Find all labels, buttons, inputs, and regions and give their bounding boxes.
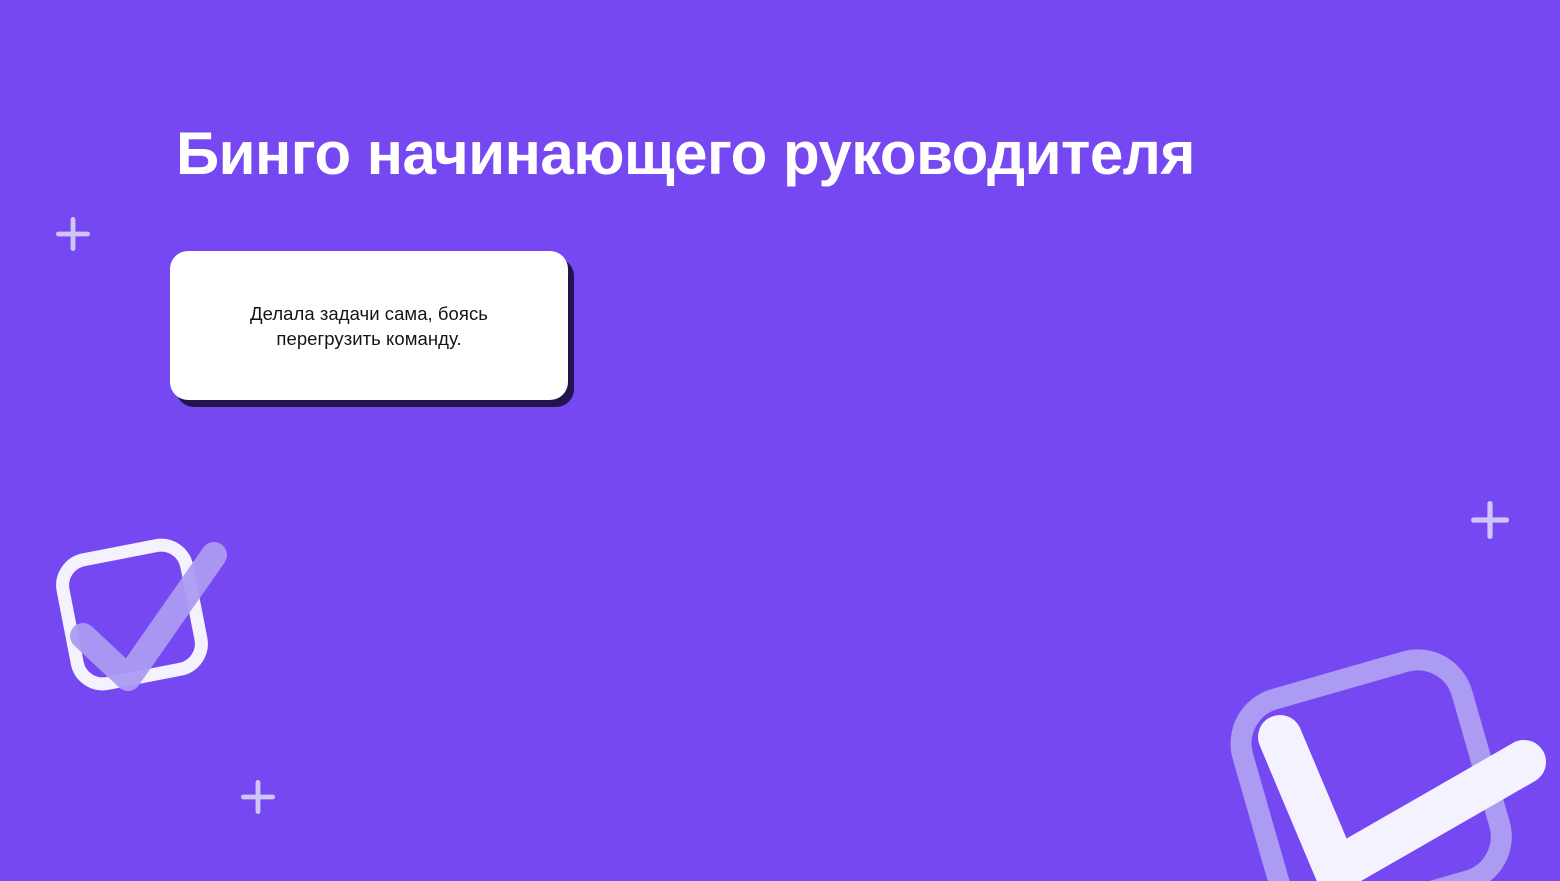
presentation-slide: Бинго начинающего руководителя Делала за… (0, 0, 1560, 881)
checkbox-check-icon-bottom-right (1218, 640, 1560, 881)
plus-icon-bottom-left (240, 779, 276, 815)
page-title: Бинго начинающего руководителя (176, 118, 1386, 190)
checkbox-check-icon-top-left (42, 520, 238, 706)
plus-icon-right (1470, 500, 1510, 540)
plus-icon-top-left (55, 216, 91, 252)
bingo-card-text: Делала задачи сама, боясь перегрузить ко… (214, 301, 524, 351)
bingo-card[interactable]: Делала задачи сама, боясь перегрузить ко… (170, 251, 568, 400)
